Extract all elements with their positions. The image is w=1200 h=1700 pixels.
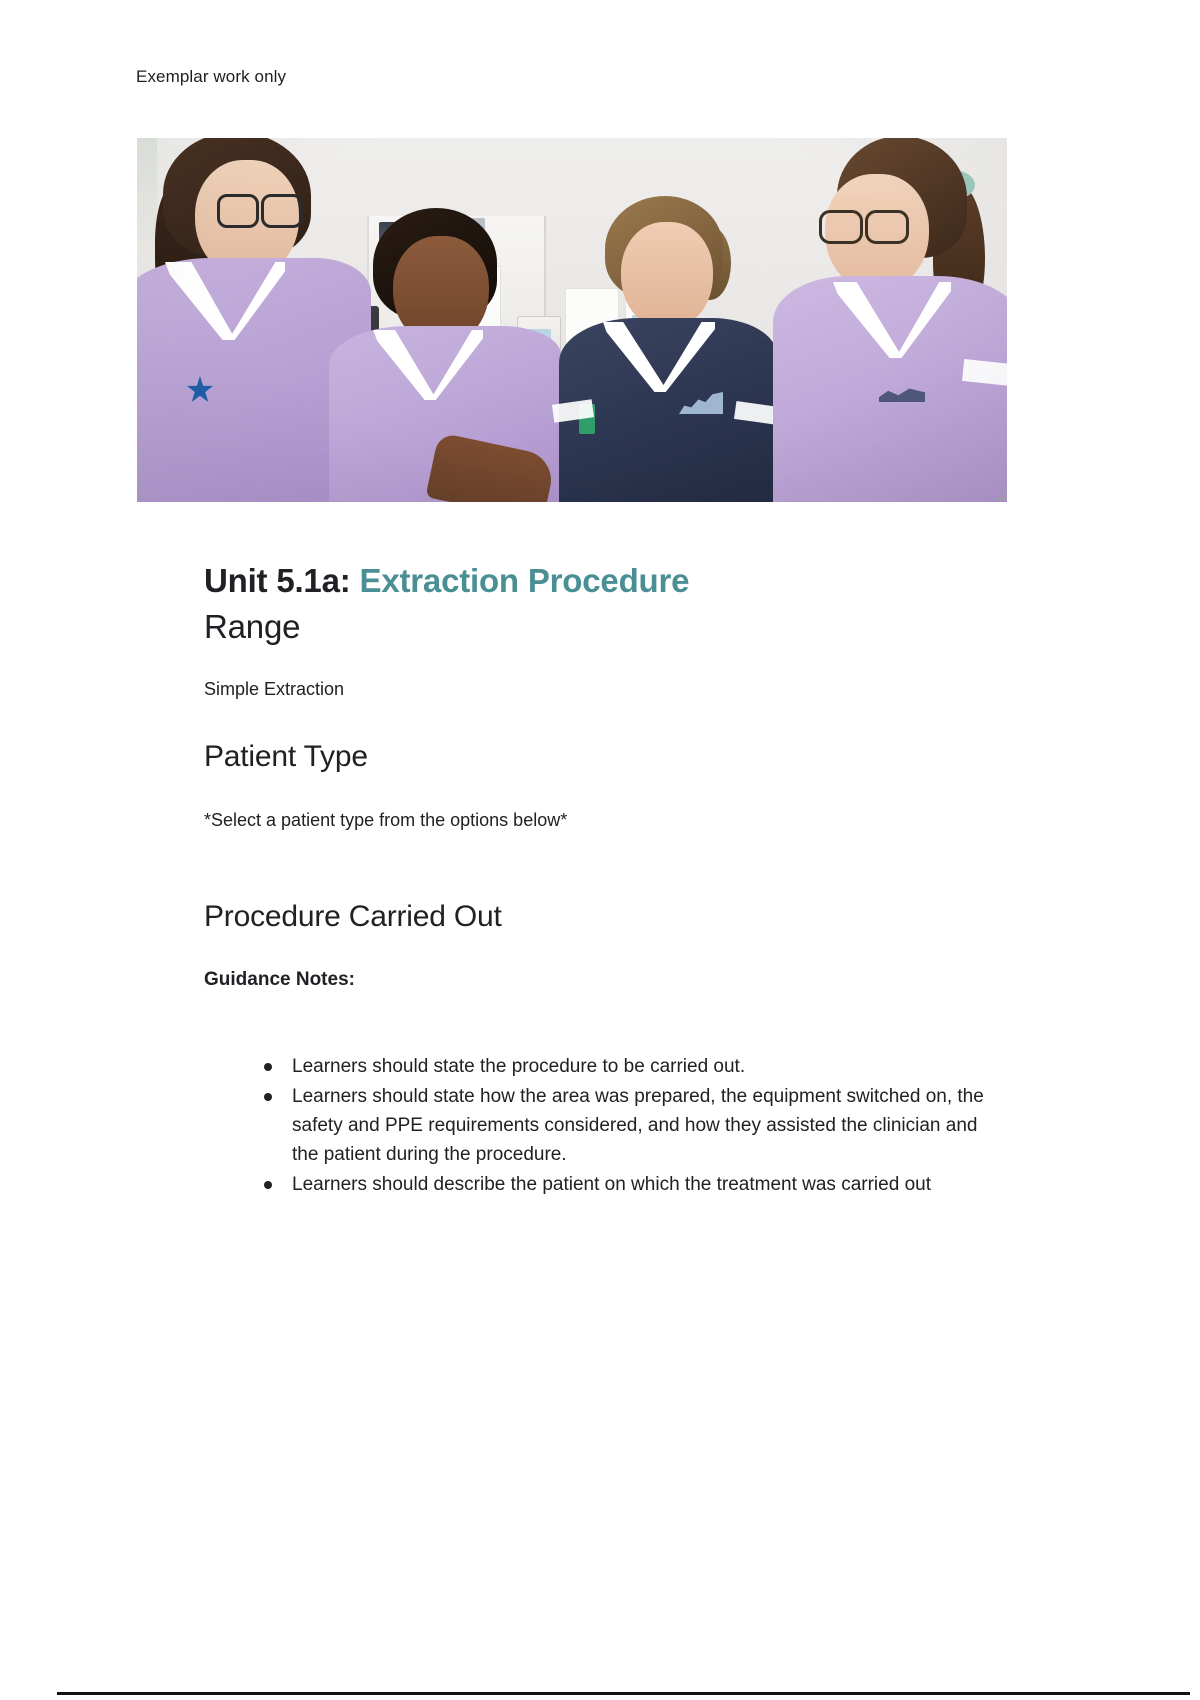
page-title-line2: Range bbox=[204, 604, 300, 650]
page-title: Unit 5.1a: Extraction Procedure bbox=[204, 558, 689, 604]
exemplar-header-note: Exemplar work only bbox=[136, 66, 286, 89]
glasses-icon bbox=[819, 210, 909, 240]
patient-type-instruction: *Select a patient type from the options … bbox=[204, 806, 567, 834]
list-item: Learners should describe the patient on … bbox=[264, 1170, 1004, 1199]
photo-person-right-lilac bbox=[767, 140, 1007, 502]
photo-resize-handle-icon[interactable] bbox=[995, 490, 1005, 500]
page-title-prefix: Unit 5.1a: bbox=[204, 562, 351, 599]
footer-divider bbox=[57, 1692, 1190, 1695]
photo-person-centre-navy bbox=[553, 196, 783, 502]
document-page: Exemplar work only bbox=[0, 0, 1200, 1700]
list-item: Learners should state the procedure to b… bbox=[264, 1052, 1004, 1081]
photo-person-second-lilac bbox=[327, 208, 562, 502]
photo-content bbox=[137, 138, 1007, 502]
guidance-notes-list: Learners should state the procedure to b… bbox=[204, 1052, 1004, 1200]
list-item: Learners should state how the area was p… bbox=[264, 1082, 1004, 1169]
section-heading-patient-type: Patient Type bbox=[204, 736, 368, 778]
guidance-notes-heading: Guidance Notes: bbox=[204, 966, 355, 994]
photo-person-centre-face bbox=[621, 222, 713, 330]
range-value: Simple Extraction bbox=[204, 675, 344, 703]
glasses-icon bbox=[217, 194, 303, 224]
page-title-accent: Extraction Procedure bbox=[360, 562, 690, 599]
section-heading-procedure-carried-out: Procedure Carried Out bbox=[204, 896, 502, 938]
photo-person-right-tunic bbox=[773, 276, 1007, 502]
clinical-team-photo[interactable] bbox=[137, 138, 1007, 502]
